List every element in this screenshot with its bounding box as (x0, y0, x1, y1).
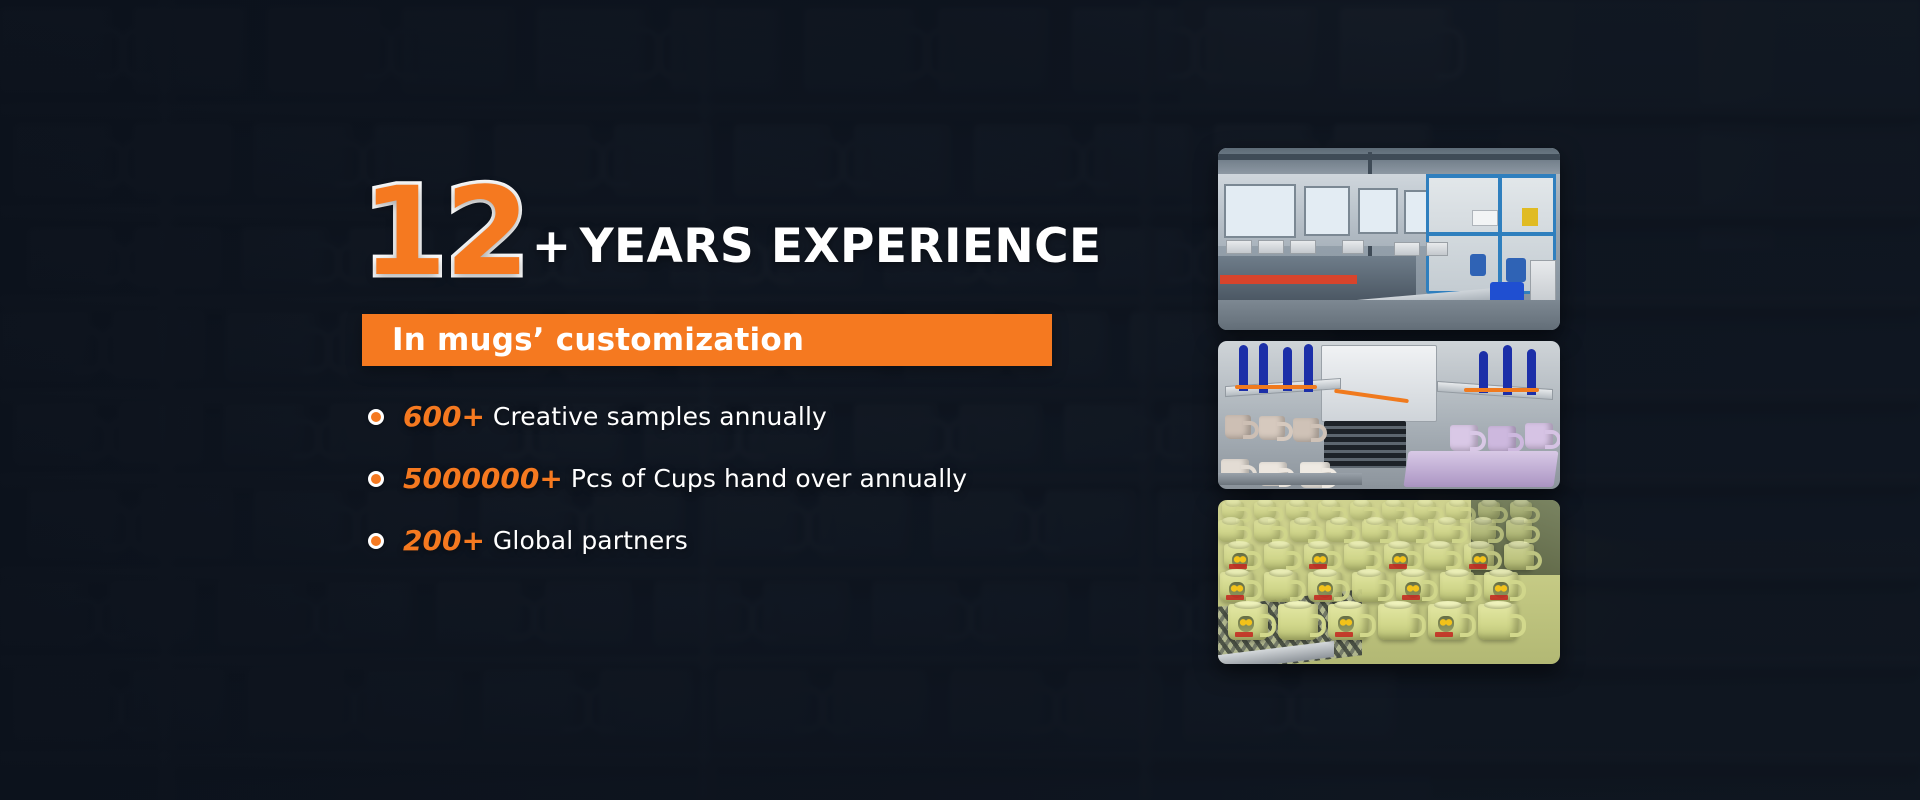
headline: 12 +YEARS EXPERIENCE (362, 176, 1102, 288)
mug (1382, 502, 1404, 520)
mug (1434, 520, 1460, 542)
bullet-icon (368, 471, 384, 487)
mug-printing-machine-photo (1218, 341, 1560, 489)
headline-text: YEARS EXPERIENCE (580, 219, 1102, 274)
print-text (1435, 632, 1453, 637)
stat-label: Creative samples annually (493, 402, 827, 431)
stats-list: 600+Creative samples annually5000000+Pcs… (368, 400, 967, 557)
bullet-icon (368, 533, 384, 549)
mug (1362, 520, 1388, 542)
print-text (1335, 632, 1353, 637)
mug (1398, 520, 1424, 542)
mug (1264, 544, 1294, 570)
bullet-icon (368, 409, 384, 425)
subtitle-text: In mugs’ customization (392, 322, 804, 358)
print-text (1309, 564, 1327, 569)
print-text (1229, 564, 1247, 569)
subtitle-banner: In mugs’ customization (362, 314, 1052, 366)
mug (1424, 544, 1454, 570)
headline-suffix: +YEARS EXPERIENCE (532, 219, 1102, 288)
stat-value: 200+ (403, 524, 485, 557)
mug (1440, 572, 1474, 602)
mug (1326, 520, 1352, 542)
mug (1264, 572, 1298, 602)
stat-item: 600+Creative samples annually (368, 400, 967, 433)
mug (1478, 604, 1518, 640)
print-text (1235, 632, 1253, 637)
mug (1218, 520, 1244, 542)
stat-label: Global partners (493, 526, 688, 555)
print-text (1226, 595, 1244, 600)
mug (1344, 544, 1374, 570)
stat-item: 200+Global partners (368, 524, 967, 557)
plus-sign: + (532, 219, 572, 274)
mug (1278, 604, 1318, 640)
yellow-mugs-conveyor-photo (1218, 500, 1560, 664)
stat-value: 5000000+ (403, 462, 563, 495)
print-text (1490, 595, 1508, 600)
stat-label: Pcs of Cups hand over annually (571, 464, 967, 493)
mug (1506, 520, 1532, 542)
stat-item: 5000000+Pcs of Cups hand over annually (368, 462, 967, 495)
mug (1254, 520, 1280, 542)
print-text (1314, 595, 1332, 600)
years-number: 12 (362, 176, 528, 288)
mug (1504, 544, 1534, 570)
print-text (1402, 595, 1420, 600)
print-text (1389, 564, 1407, 569)
stat-value: 600+ (403, 400, 485, 433)
factory-workshop-photo (1218, 148, 1560, 330)
mug (1378, 604, 1418, 640)
hero-banner: 12 +YEARS EXPERIENCE In mugs’ customizat… (0, 0, 1920, 800)
mug (1470, 520, 1496, 542)
mug (1352, 572, 1386, 602)
print-text (1469, 564, 1487, 569)
mug (1290, 520, 1316, 542)
photo-stack (1218, 148, 1560, 675)
